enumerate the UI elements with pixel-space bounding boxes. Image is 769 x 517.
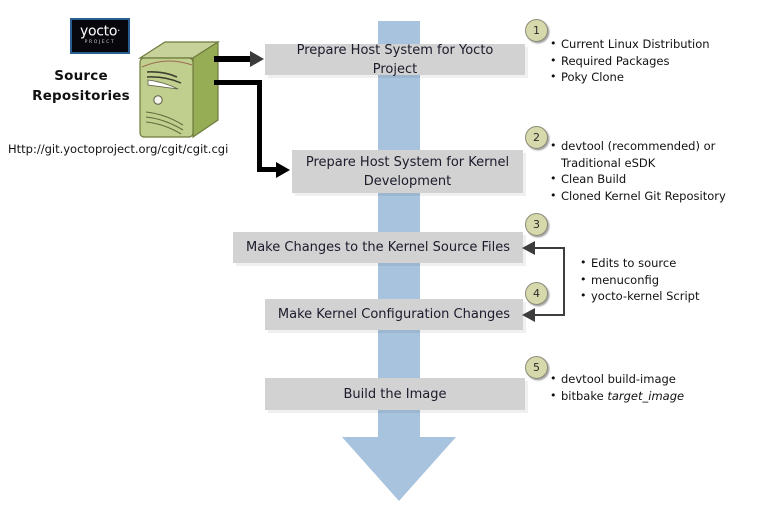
source-repositories-url: Http://git.yoctoproject.org/cgit/cgit.cg… <box>8 142 228 156</box>
notes-step2-item: Cloned Kernel Git Repository <box>550 188 765 205</box>
notes-step2: devtool (recommended) or Traditional eSD… <box>550 138 765 204</box>
connector-server-to-step2-arrowhead <box>276 162 290 178</box>
notes-step2-item: devtool (recommended) or Traditional eSD… <box>550 138 765 171</box>
notes-steps-3-and-4: Edits to source menuconfig yocto-kernel … <box>580 255 765 305</box>
process-box-step1-label: Prepare Host System for Yocto Project <box>273 41 517 79</box>
connector-server-to-step2-vertical <box>257 80 262 172</box>
process-box-step4[interactable]: Make Kernel Configuration Changes <box>265 299 523 330</box>
source-repositories-label-line1: Source <box>26 66 136 86</box>
connector-server-to-step1-line <box>214 56 252 62</box>
step-number-circle-5: 5 <box>525 356 548 379</box>
connector-server-to-step2-horizontal-top <box>214 80 262 85</box>
server-tower-icon <box>137 40 221 140</box>
step-number-circle-1: 1 <box>525 19 548 42</box>
process-box-step1[interactable]: Prepare Host System for Yocto Project <box>265 44 525 75</box>
feedback-bracket-arrowhead-step3 <box>522 241 535 255</box>
feedback-bracket-top-horizontal <box>535 247 565 249</box>
process-box-step5[interactable]: Build the Image <box>265 378 525 410</box>
notes-step1-item: Current Linux Distribution <box>550 36 765 53</box>
yocto-logo-word-text: yocto <box>80 24 117 40</box>
process-box-step3[interactable]: Make Changes to the Kernel Source Files <box>233 232 523 263</box>
process-box-step2-label: Prepare Host System for Kernel Developme… <box>300 153 515 191</box>
yocto-logo-wordmark: yocto· <box>72 24 128 40</box>
yocto-project-logo: yocto· PROJECT <box>70 18 130 54</box>
process-box-step2[interactable]: Prepare Host System for Kernel Developme… <box>292 150 523 193</box>
source-repositories-label-line2: Repositories <box>26 86 136 106</box>
notes-steps-3-and-4-item: Edits to source <box>580 255 765 272</box>
process-box-step4-label: Make Kernel Configuration Changes <box>278 305 510 324</box>
step-number-circle-2: 2 <box>525 126 548 149</box>
notes-step5-bitbake-command: bitbake <box>561 389 607 403</box>
notes-step5-bitbake-target: target_image <box>607 389 684 403</box>
feedback-bracket-bottom-horizontal <box>535 314 565 316</box>
diagram-canvas: yocto· PROJECT Source Repositori <box>0 0 769 517</box>
process-box-step3-label: Make Changes to the Kernel Source Files <box>246 238 510 257</box>
notes-step1-item: Poky Clone <box>550 69 765 86</box>
step-number-circle-4: 4 <box>525 282 548 305</box>
source-repositories-label: Source Repositories <box>26 66 136 106</box>
notes-step1: Current Linux Distribution Required Pack… <box>550 36 765 86</box>
notes-step2-item: Clean Build <box>550 171 765 188</box>
notes-steps-3-and-4-item: yocto-kernel Script <box>580 288 765 305</box>
notes-step5-item: devtool build-image <box>550 371 765 388</box>
connector-server-to-step1-arrowhead <box>250 51 264 67</box>
main-flow-arrow-head <box>342 437 456 501</box>
yocto-logo-subtitle: PROJECT <box>72 40 128 46</box>
yocto-logo-dot: · <box>117 26 120 37</box>
notes-steps-3-and-4-item: menuconfig <box>580 272 765 289</box>
notes-step5: devtool build-image bitbake target_image <box>550 371 765 404</box>
feedback-bracket-vertical <box>563 247 565 316</box>
step-number-circle-3: 3 <box>525 213 548 236</box>
notes-step1-item: Required Packages <box>550 53 765 70</box>
process-box-step5-label: Build the Image <box>344 385 447 404</box>
notes-step5-item-bitbake: bitbake target_image <box>550 388 765 405</box>
feedback-bracket-arrowhead-step4 <box>522 308 535 322</box>
